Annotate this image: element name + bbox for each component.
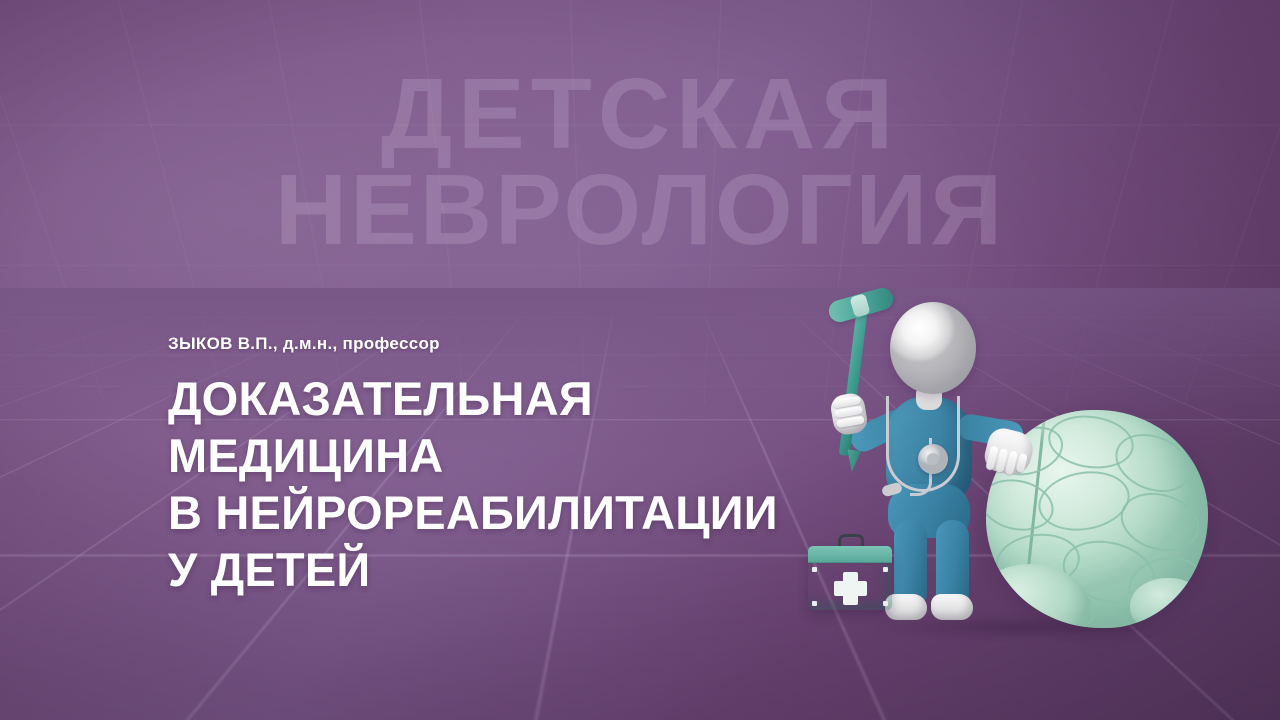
figure-left-leg [894,520,927,604]
case-stud [812,567,817,572]
presentation-slide: ДЕТСКАЯ НЕВРОЛОГИЯ ЗЫКОВ В.П., д.м.н., п… [0,0,1280,720]
figure-right-leg [936,520,969,604]
first-aid-case-icon [808,546,892,610]
watermark-title: ДЕТСКАЯ НЕВРОЛОГИЯ [0,66,1280,258]
watermark-line-1: ДЕТСКАЯ [0,66,1280,162]
watermark-line-2: НЕВРОЛОГИЯ [0,162,1280,258]
stethoscope-chestpiece [918,444,948,474]
illustration [790,288,1220,660]
case-stud [883,567,888,572]
brain-cerebellum [1130,578,1204,628]
case-lid [808,546,892,563]
figure-right-shoe [931,594,973,620]
medical-cross-icon [834,581,867,596]
case-stud [812,601,817,606]
case-stud [883,601,888,606]
figure-head [890,302,976,394]
brain-fold [1034,464,1135,537]
